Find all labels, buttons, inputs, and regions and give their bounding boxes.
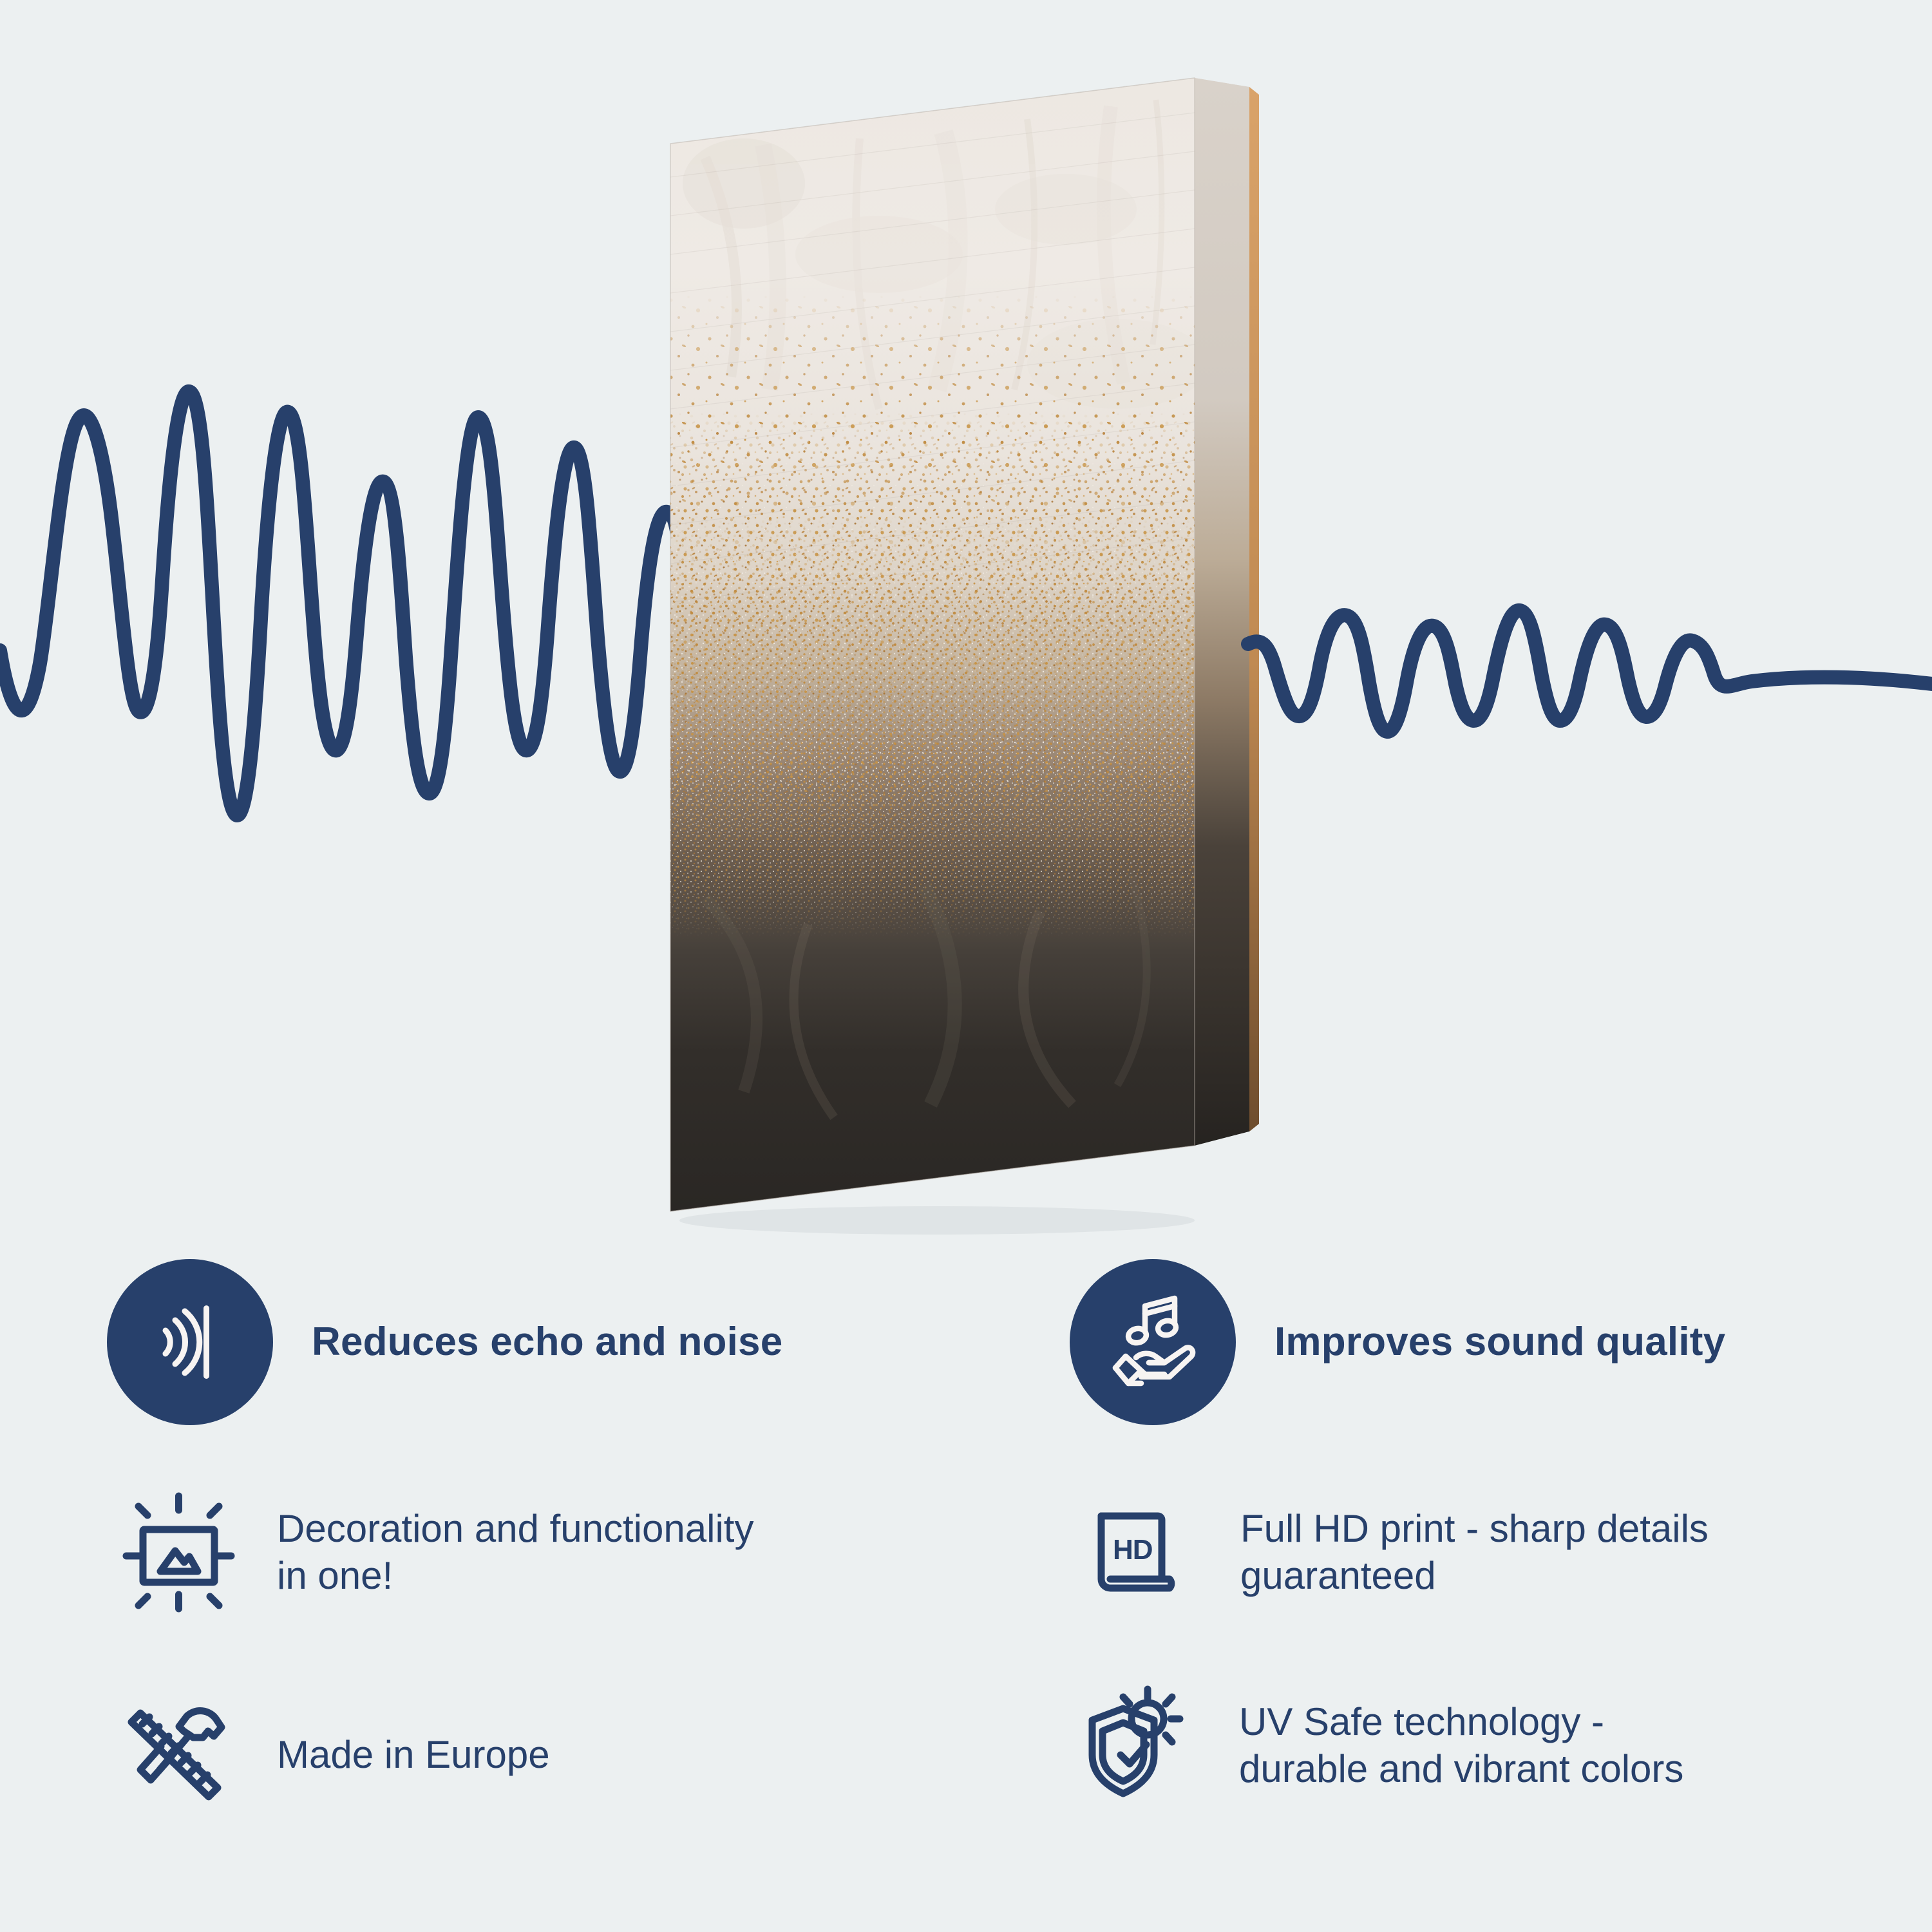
feature-improves-sound[interactable]: Improves sound quality: [1070, 1259, 1725, 1425]
feature-label: Improves sound quality: [1274, 1318, 1725, 1365]
feature-decoration-functionality[interactable]: Decoration and functionality in one!: [111, 1484, 753, 1620]
svg-text:HD: HD: [1113, 1534, 1153, 1566]
feature-uv-safe[interactable]: UV Safe technology - durable and vibrant…: [1073, 1678, 1683, 1813]
infographic-stage: Reduces echo and noise: [0, 0, 1932, 1932]
feature-label: Reduces echo and noise: [312, 1318, 782, 1365]
feature-label: UV Safe technology - durable and vibrant…: [1239, 1698, 1683, 1792]
shining-picture-frame-icon: [111, 1484, 246, 1620]
uv-shield-sun-icon: [1073, 1678, 1208, 1813]
ruler-and-hammer-icon: [111, 1687, 246, 1823]
feature-label: Full HD print - sharp details guaranteed: [1240, 1505, 1709, 1599]
feature-label: Decoration and functionality in one!: [277, 1505, 753, 1599]
feature-made-in-europe[interactable]: Made in Europe: [111, 1687, 550, 1823]
feature-full-hd-print[interactable]: HD Full HD print - sharp details guarant…: [1074, 1484, 1709, 1620]
sound-waves-panel-icon: [107, 1259, 273, 1425]
feature-reduces-echo[interactable]: Reduces echo and noise: [107, 1259, 782, 1425]
feature-list: Reduces echo and noise: [0, 1227, 1932, 1932]
hand-holding-music-note-icon: [1070, 1259, 1236, 1425]
hd-print-canvas-icon: HD: [1074, 1484, 1209, 1620]
feature-label: Made in Europe: [277, 1731, 550, 1778]
